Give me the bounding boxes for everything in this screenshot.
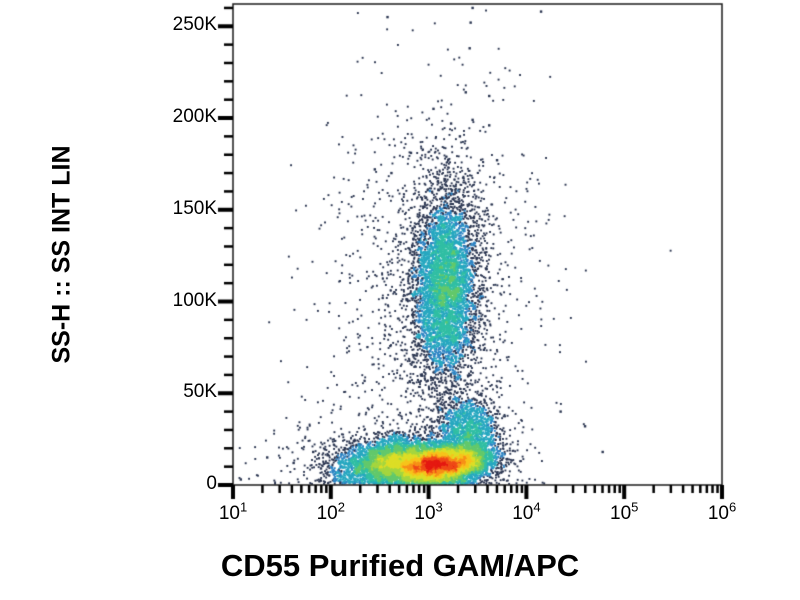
x-tick-label-1e6: 106 <box>687 503 757 525</box>
y-tick-label-0: 0 <box>137 473 217 495</box>
x-axis-title: CD55 Purified GAM/APC <box>0 548 800 584</box>
flow-cytometry-figure: CD55 Purified GAM/APC SS-H :: SS INT LIN… <box>0 0 800 600</box>
y-tick-label-150000: 150K <box>137 198 217 220</box>
x-tick-label-1e4: 104 <box>491 503 561 525</box>
y-tick-label-100000: 100K <box>137 290 217 312</box>
y-tick-label-200000: 200K <box>137 106 217 128</box>
x-tick-label-1e5: 105 <box>589 503 659 525</box>
x-tick-label-1e1: 101 <box>198 503 268 525</box>
y-axis-title: SS-H :: SS INT LIN <box>48 45 77 465</box>
x-tick-label-1e2: 102 <box>296 503 366 525</box>
y-tick-label-50000: 50K <box>137 381 217 403</box>
x-tick-label-1e3: 103 <box>394 503 464 525</box>
y-tick-label-250000: 250K <box>137 14 217 36</box>
